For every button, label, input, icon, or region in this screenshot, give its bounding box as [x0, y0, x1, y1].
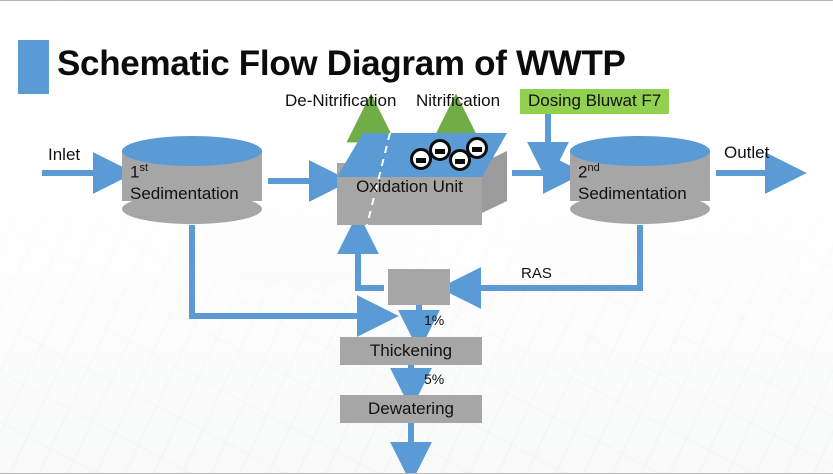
unit-thickening: Thickening [340, 337, 482, 365]
tank1-ordinal-suffix: st [139, 162, 148, 174]
flow-return-sludge-to-oxidation [358, 229, 384, 288]
page-title: Schematic Flow Diagram of WWTP [57, 44, 626, 84]
slide-canvas: Schematic Flow Diagram of WWTP De-Nitrif… [0, 0, 833, 474]
flow-sed1-sludge-to-splitter [192, 225, 382, 316]
title-accent-bar [18, 40, 49, 94]
aerator-icon [429, 139, 451, 161]
unit-sedimentation-1: 1st Sedimentation [122, 136, 262, 226]
oxidation-label: Oxidation Unit [337, 177, 482, 197]
unit-dewatering: Dewatering [340, 395, 482, 423]
tank2-label: 2nd Sedimentation [570, 158, 718, 204]
label-denitrification: De-Nitrification [285, 91, 396, 111]
label-outlet: Outlet [724, 143, 769, 163]
unit-oxidation: Oxidation Unit [337, 133, 507, 225]
unit-sludge-splitter [388, 269, 450, 305]
tank2-ordinal-suffix: nd [587, 162, 599, 174]
tank1-label: 1st Sedimentation [122, 158, 270, 204]
label-inlet: Inlet [48, 145, 80, 165]
label-percent-dewatering: 5% [424, 371, 444, 387]
label-nitrification: Nitrification [416, 91, 500, 111]
tank2-name: Sedimentation [578, 184, 687, 203]
unit-sedimentation-2: 2nd Sedimentation [570, 136, 710, 226]
label-percent-thickening: 1% [424, 312, 444, 328]
label-ras: RAS [521, 265, 552, 282]
label-dosing-bluwat-f7: Dosing Bluwat F7 [520, 89, 669, 114]
aerator-icon [466, 137, 488, 159]
tank1-name: Sedimentation [130, 184, 239, 203]
